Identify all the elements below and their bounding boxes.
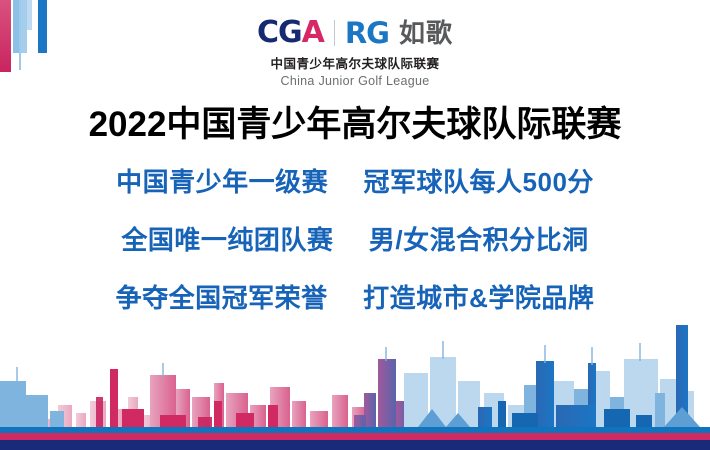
body-line-2-right: 男/女混合积分比洞 [369,225,589,255]
logo-subtitle-en: China Junior Golf League [0,74,710,88]
bottom-bar-navy [0,440,710,450]
body-line-1-left: 中国青少年一级赛 [116,167,328,197]
skyline-icon [0,297,710,427]
logo-cga-a: A [302,15,324,50]
logo-ruge-cn: 如歌 [399,20,453,46]
logo-block: CGA RG 如歌 中国青少年高尔夫球队际联赛 China Junior Gol… [0,18,710,88]
logo-cga: CGA [257,18,324,48]
bottom-bar-crimson [0,433,710,440]
logo-wordmark: CGA RG 如歌 [0,18,710,48]
page-title: 2022中国青少年高尔夫球队际联赛 [0,96,710,147]
body-line-2: 全国唯一纯团队赛 男/女混合积分比洞 [0,220,710,257]
logo-rg: RG [345,19,389,48]
body-line-2-left: 全国唯一纯团队赛 [121,225,333,255]
bottom-stripe-bars [0,427,710,450]
skyline-graphic [0,297,710,427]
body-line-1-right: 冠军球队每人500分 [364,167,594,197]
poster-canvas: CGA RG 如歌 中国青少年高尔夫球队际联赛 China Junior Gol… [0,0,710,450]
body-line-1: 中国青少年一级赛 冠军球队每人500分 [0,162,710,199]
logo-cga-cg: CG [257,15,302,50]
logo-subtitle-cn: 中国青少年高尔夫球队际联赛 [0,53,710,72]
logo-divider-icon [334,20,335,46]
